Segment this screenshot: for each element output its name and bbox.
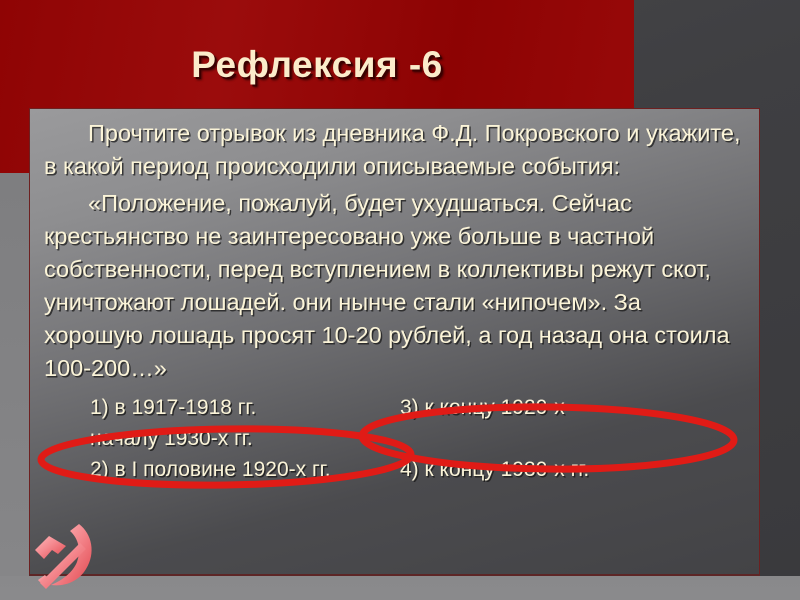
content-panel: Прочтите отрывок из дневника Ф.Д. Покров… bbox=[29, 108, 760, 575]
left-grey-strip bbox=[0, 173, 30, 576]
option-4[interactable]: 4) к концу 1930-х гг. bbox=[400, 454, 745, 485]
panel-bottom-rule bbox=[29, 574, 760, 576]
page-title: Рефлексия -6 bbox=[0, 44, 634, 86]
content-panel-inner: Прочтите отрывок из дневника Ф.Д. Покров… bbox=[30, 109, 759, 574]
option-3[interactable]: 3) к концу 1920-х – bbox=[400, 392, 745, 423]
option-row-1: 1) в 1917-1918 гг. 3) к концу 1920-х – bbox=[44, 392, 745, 423]
hammer-and-sickle-icon bbox=[22, 517, 108, 597]
answer-options: 1) в 1917-1918 гг. 3) к концу 1920-х – н… bbox=[44, 392, 745, 485]
option-3-continuation[interactable]: началу 1930-х гг. bbox=[44, 423, 745, 454]
option-2[interactable]: 2) в I половине 1920-х гг. bbox=[44, 454, 400, 485]
prompt-paragraph: Прочтите отрывок из дневника Ф.Д. Покров… bbox=[44, 117, 745, 183]
quote-paragraph: «Положение, пожалуй, будет ухудшаться. С… bbox=[44, 187, 745, 385]
option-1[interactable]: 1) в 1917-1918 гг. bbox=[44, 392, 400, 423]
slide-root: Рефлексия -6 Прочтите отрывок из дневник… bbox=[0, 0, 800, 600]
option-row-2: 2) в I половине 1920-х гг. 4) к концу 19… bbox=[44, 454, 745, 485]
